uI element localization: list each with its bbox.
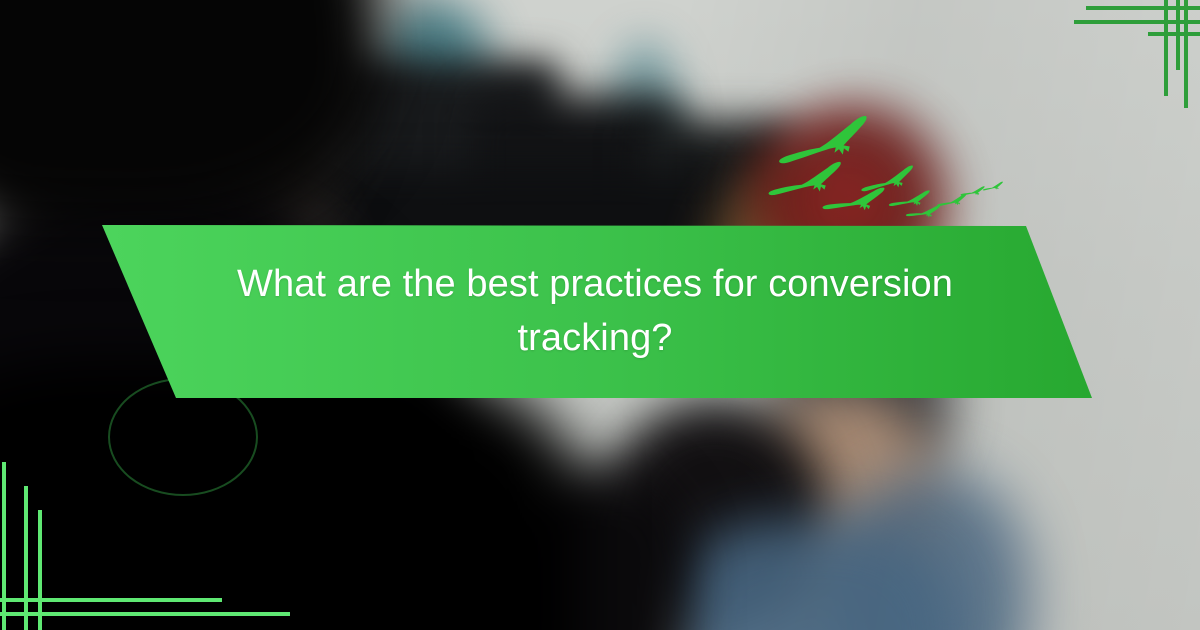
share-card: What are the best practices for conversi… <box>0 0 1200 630</box>
page-title: What are the best practices for conversi… <box>190 258 1000 366</box>
circle-outline-decoration <box>108 378 258 496</box>
